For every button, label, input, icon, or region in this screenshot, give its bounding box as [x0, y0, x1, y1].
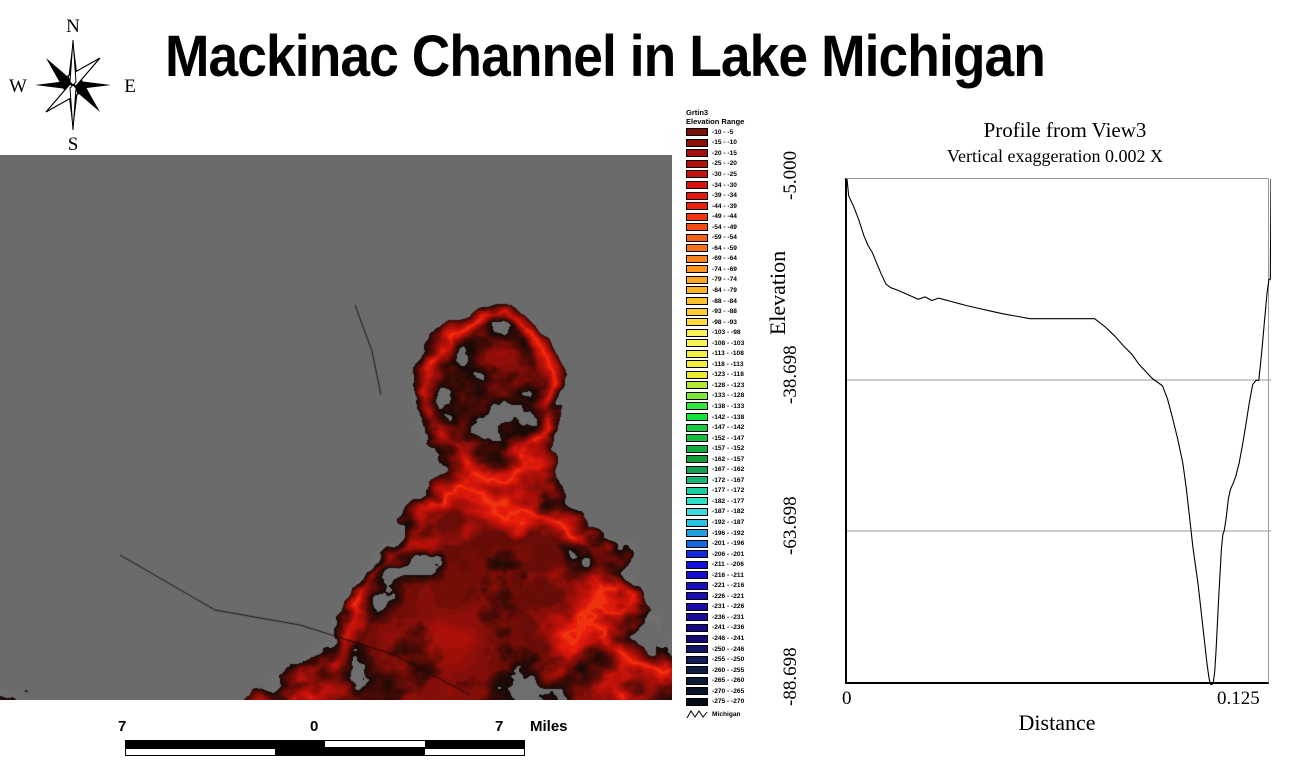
legend-entry-label: -216 - -211	[712, 572, 744, 579]
legend-entry-label: -88 - -84	[712, 298, 737, 305]
legend-color-swatch	[686, 170, 708, 178]
legend-entry-label: -275 - -270	[712, 698, 744, 705]
profile-x-axis-label: Distance	[845, 710, 1269, 736]
legend-entry-label: -226 - -221	[712, 593, 744, 600]
legend-color-swatch	[686, 434, 708, 442]
compass-star-icon	[35, 40, 111, 130]
legend-color-swatch	[686, 213, 708, 221]
legend-entry-label: -138 - -133	[712, 403, 744, 410]
legend-entry[interactable]: -221 - -216	[686, 581, 778, 592]
scale-bar-row-bottom	[125, 748, 525, 756]
legend-entry[interactable]: -49 - -44	[686, 211, 778, 222]
legend-color-swatch	[686, 687, 708, 695]
compass-north-label: N	[66, 16, 80, 37]
legend-color-swatch	[686, 202, 708, 210]
profile-line-series	[847, 179, 1271, 685]
legend-color-swatch	[686, 592, 708, 600]
legend-entry-label: -123 - -118	[712, 371, 744, 378]
legend-color-swatch	[686, 128, 708, 136]
legend-color-swatch	[686, 476, 708, 484]
legend-color-swatch	[686, 497, 708, 505]
legend-entry[interactable]: -142 - -138	[686, 412, 778, 423]
profile-y-axis-label: Elevation	[765, 251, 791, 335]
legend-entry[interactable]: -152 - -147	[686, 433, 778, 444]
legend-entry[interactable]: -108 - -103	[686, 338, 778, 349]
legend-entry[interactable]: -192 - -187	[686, 517, 778, 528]
legend-color-swatch	[686, 286, 708, 294]
scale-bar-labels: 7 0 7 Miles	[110, 718, 590, 738]
legend-entry[interactable]: -138 - -133	[686, 401, 778, 412]
legend-color-swatch	[686, 350, 708, 358]
legend-entry-label: -162 - -157	[712, 456, 744, 463]
legend-entry[interactable]: -123 - -118	[686, 370, 778, 381]
profile-subtitle: Vertical exaggeration 0.002 X	[820, 146, 1290, 167]
legend-color-swatch	[686, 149, 708, 157]
legend-color-swatch	[686, 455, 708, 463]
legend-entry-label: -270 - -265	[712, 688, 744, 695]
legend-color-swatch	[686, 255, 708, 263]
legend-entry[interactable]: -255 - -250	[686, 654, 778, 665]
legend-entry-label: -128 - -123	[712, 382, 744, 389]
legend-color-swatch	[686, 519, 708, 527]
scale-label-right: 7	[495, 718, 503, 735]
legend-entry[interactable]: -15 - -10	[686, 138, 778, 149]
legend-color-swatch	[686, 402, 708, 410]
scale-label-mid: 0	[310, 718, 318, 735]
legend-color-swatch	[686, 677, 708, 685]
legend-entry-label: -246 - -241	[712, 635, 744, 642]
legend-subtitle: Elevation Range	[686, 117, 778, 126]
legend-entry[interactable]: -206 - -201	[686, 549, 778, 560]
legend-color-swatch	[686, 244, 708, 252]
legend-entry-label: -157 - -152	[712, 445, 744, 452]
legend-entry[interactable]: -44 - -39	[686, 201, 778, 212]
legend-entry-label: -10 - -5	[712, 129, 733, 136]
legend-entry-label: -260 - -255	[712, 667, 744, 674]
compass-south-label: S	[68, 134, 79, 152]
legend-color-swatch	[686, 613, 708, 621]
legend-entry[interactable]: -39 - -34	[686, 190, 778, 201]
legend-entry[interactable]: -236 - -231	[686, 612, 778, 623]
legend-entry[interactable]: -59 - -54	[686, 232, 778, 243]
legend-entry-label: -142 - -138	[712, 414, 744, 421]
legend-color-swatch	[686, 392, 708, 400]
scale-bar-row-top	[125, 740, 525, 748]
legend-entry-label: -79 - -74	[712, 276, 737, 283]
legend-entry[interactable]: -147 - -142	[686, 422, 778, 433]
legend-entry-label: -187 - -182	[712, 508, 744, 515]
legend-color-swatch	[686, 318, 708, 326]
legend-color-swatch	[686, 529, 708, 537]
compass-east-label: E	[124, 76, 136, 97]
legend-entry-label: -15 - -10	[712, 139, 737, 146]
legend-entry[interactable]: -246 - -241	[686, 633, 778, 644]
legend-entry-label: -74 - -69	[712, 266, 737, 273]
profile-plot-area[interactable]	[845, 178, 1269, 684]
legend-color-swatch	[686, 424, 708, 432]
legend-color-swatch	[686, 329, 708, 337]
legend-entry[interactable]: -187 - -182	[686, 507, 778, 518]
legend-entry[interactable]: -241 - -236	[686, 623, 778, 634]
scale-label-units: Miles	[530, 718, 568, 735]
legend-entry[interactable]: -172 - -167	[686, 475, 778, 486]
legend-entry-label: -103 - -98	[712, 329, 741, 336]
legend-entry-label: -231 - -226	[712, 603, 744, 610]
legend-entry[interactable]: -270 - -265	[686, 686, 778, 697]
legend-color-swatch	[686, 698, 708, 706]
compass-rose: N E S W	[8, 12, 138, 152]
legend-entry-label: -206 - -201	[712, 551, 744, 558]
legend-entry-michigan[interactable]: Michigan	[686, 708, 778, 720]
legend-entry-label: -118 - -113	[712, 361, 744, 368]
legend-entry-label: -196 - -192	[712, 530, 744, 537]
legend-entry-label: -250 - -246	[712, 646, 744, 653]
legend-color-swatch	[686, 360, 708, 368]
legend-entry[interactable]: -133 - -128	[686, 391, 778, 402]
legend-entry-label: -241 - -236	[712, 624, 744, 631]
legend-color-swatch	[686, 624, 708, 632]
profile-y-tick-3: -88.698	[780, 647, 802, 706]
scale-bar-graphic	[125, 740, 525, 756]
legend-entry-label: -167 - -162	[712, 466, 744, 473]
legend-entry-label: -201 - -196	[712, 540, 744, 547]
legend-color-swatch	[686, 645, 708, 653]
legend-entry[interactable]: -265 - -260	[686, 675, 778, 686]
legend-entry-label: -211 - -206	[712, 561, 744, 568]
legend-entry[interactable]: -211 - -206	[686, 559, 778, 570]
legend-entry[interactable]: -54 - -49	[686, 222, 778, 233]
legend-color-swatch	[686, 550, 708, 558]
legend-entry-label: -39 - -34	[712, 192, 737, 199]
profile-y-tick-1: -38.698	[780, 345, 802, 404]
legend-entry[interactable]: -113 - -108	[686, 348, 778, 359]
legend-color-swatch	[686, 339, 708, 347]
legend-entry[interactable]: -167 - -162	[686, 465, 778, 476]
legend-color-swatch	[686, 466, 708, 474]
legend-entry[interactable]: -182 - -177	[686, 496, 778, 507]
legend-entry-label: -59 - -54	[712, 234, 737, 241]
legend-entry[interactable]: -216 - -211	[686, 570, 778, 581]
legend-entry-label: -34 - -30	[712, 182, 737, 189]
profile-title: Profile from View3	[840, 118, 1290, 143]
legend-entry-label: -265 - -260	[712, 677, 744, 684]
scale-bar: 7 0 7 Miles	[110, 718, 590, 764]
legend-entry[interactable]: -157 - -152	[686, 443, 778, 454]
legend-entry-label: -182 - -177	[712, 498, 744, 505]
legend-entry-label: -64 - -59	[712, 245, 737, 252]
legend-entry[interactable]: -128 - -123	[686, 380, 778, 391]
legend-entry[interactable]: -226 - -221	[686, 591, 778, 602]
legend-entry[interactable]: -250 - -246	[686, 644, 778, 655]
profile-y-tick-2: -63.698	[780, 496, 802, 555]
polyline-icon	[686, 709, 708, 719]
legend-color-swatch	[686, 265, 708, 273]
legend-entry[interactable]: -10 - -5	[686, 127, 778, 138]
legend-entry-label: -236 - -231	[712, 614, 744, 621]
legend-entry-label: -152 - -147	[712, 435, 744, 442]
profile-y-tick-0: -5.000	[780, 151, 802, 200]
legend-color-swatch	[686, 656, 708, 664]
legend-color-swatch	[686, 487, 708, 495]
legend-color-swatch	[686, 603, 708, 611]
legend-entry-label: -93 - -88	[712, 308, 737, 315]
legend-entry-label: -172 - -167	[712, 477, 744, 484]
compass-west-label: W	[9, 76, 27, 97]
legend-entry[interactable]: -20 - -15	[686, 148, 778, 159]
legend-entry-label: -98 - -93	[712, 319, 737, 326]
legend-color-swatch	[686, 445, 708, 453]
legend-color-swatch	[686, 540, 708, 548]
legend-color-swatch	[686, 139, 708, 147]
legend-color-swatch	[686, 561, 708, 569]
legend-entry-label: -49 - -44	[712, 213, 737, 220]
scale-label-left: 7	[118, 718, 126, 735]
profile-chart: Profile from View3 Vertical exaggeration…	[780, 110, 1290, 735]
legend-entry-label: -147 - -142	[712, 424, 744, 431]
legend-color-swatch	[686, 308, 708, 316]
legend-entry-label: -192 - -187	[712, 519, 744, 526]
legend-color-swatch	[686, 160, 708, 168]
legend-color-swatch	[686, 582, 708, 590]
legend-entry-label: -255 - -250	[712, 656, 744, 663]
legend-entry-label: -25 - -20	[712, 160, 737, 167]
legend-entry-label: -84 - -79	[712, 287, 737, 294]
legend-color-swatch	[686, 635, 708, 643]
profile-x-tick-0: 0	[842, 688, 852, 710]
legend-entry-list: -10 - -5-15 - -10-20 - -15-25 - -20-30 -…	[686, 127, 778, 707]
legend-color-swatch	[686, 666, 708, 674]
legend-layer-title: Grtin3	[686, 108, 778, 117]
legend-panel: Grtin3 Elevation Range -10 - -5-15 - -10…	[686, 108, 778, 728]
legend-entry[interactable]: -275 - -270	[686, 697, 778, 708]
legend-entry[interactable]: -34 - -30	[686, 180, 778, 191]
legend-color-swatch	[686, 276, 708, 284]
legend-entry-label: -44 - -39	[712, 203, 737, 210]
legend-entry-label: -20 - -15	[712, 150, 737, 157]
legend-entry-label: -69 - -64	[712, 255, 737, 262]
legend-entry[interactable]: -231 - -226	[686, 602, 778, 613]
legend-color-swatch	[686, 192, 708, 200]
legend-entry[interactable]: -118 - -113	[686, 359, 778, 370]
legend-color-swatch	[686, 508, 708, 516]
legend-entry[interactable]: -30 - -25	[686, 169, 778, 180]
legend-color-swatch	[686, 181, 708, 189]
legend-entry-label: -113 - -108	[712, 350, 744, 357]
legend-color-swatch	[686, 371, 708, 379]
legend-entry-label: -221 - -216	[712, 582, 744, 589]
legend-michigan-label: Michigan	[712, 711, 741, 718]
map-title: Mackinac Channel in Lake Michigan	[165, 22, 1113, 92]
legend-entry-label: -30 - -25	[712, 171, 737, 178]
legend-color-swatch	[686, 571, 708, 579]
legend-entry-label: -177 - -172	[712, 487, 744, 494]
map-canvas[interactable]	[0, 155, 672, 700]
legend-color-swatch	[686, 234, 708, 242]
legend-color-swatch	[686, 381, 708, 389]
legend-entry-label: -108 - -103	[712, 340, 744, 347]
legend-color-swatch	[686, 297, 708, 305]
legend-entry[interactable]: -196 - -192	[686, 528, 778, 539]
legend-entry[interactable]: -162 - -157	[686, 454, 778, 465]
legend-entry-label: -54 - -49	[712, 224, 737, 231]
legend-entry[interactable]: -201 - -196	[686, 538, 778, 549]
legend-color-swatch	[686, 413, 708, 421]
legend-color-swatch	[686, 223, 708, 231]
profile-x-tick-1: 0.125	[1217, 688, 1260, 710]
legend-entry[interactable]: -177 - -172	[686, 486, 778, 497]
legend-entry[interactable]: -25 - -20	[686, 159, 778, 170]
legend-entry-label: -133 - -128	[712, 392, 744, 399]
legend-entry[interactable]: -260 - -255	[686, 665, 778, 676]
